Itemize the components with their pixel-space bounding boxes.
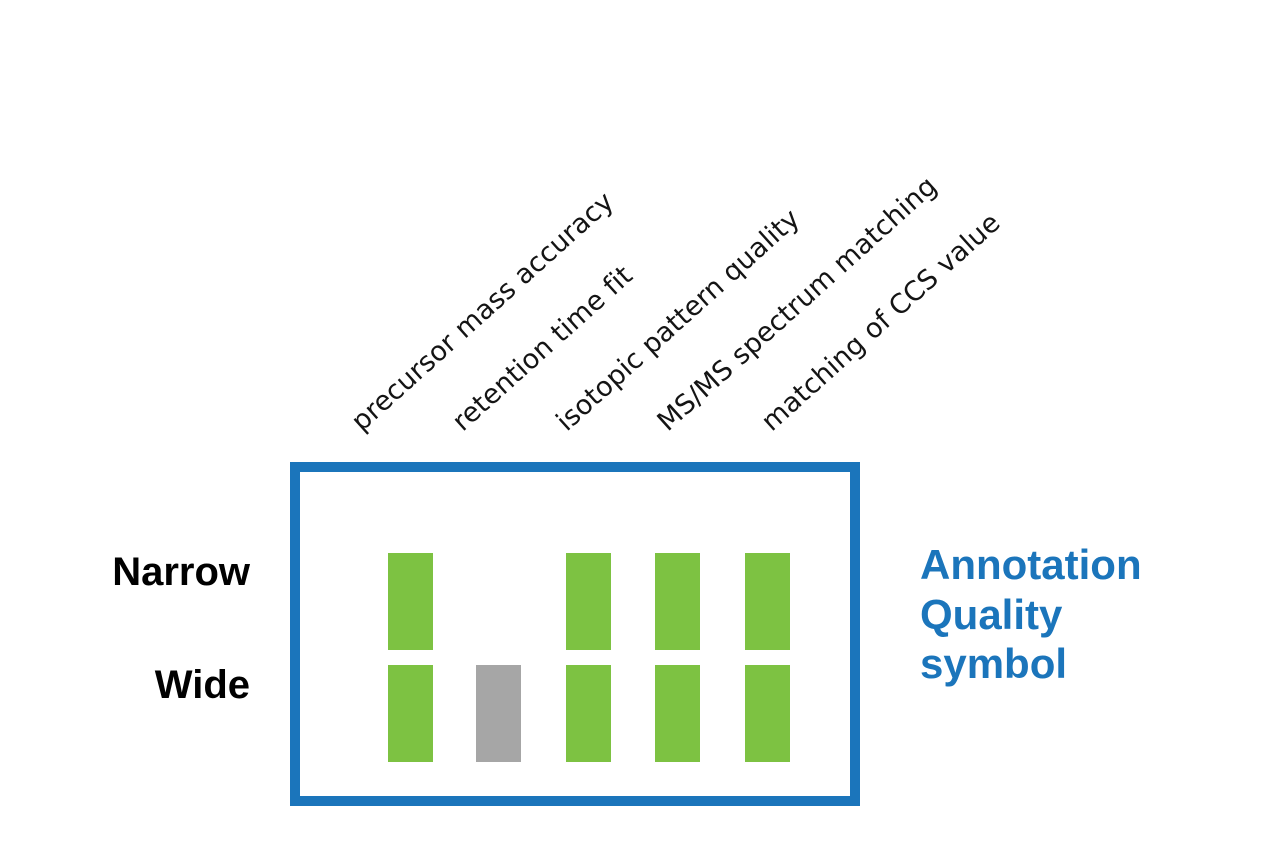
quality-bar-wide-retention-time-fit bbox=[476, 665, 521, 762]
quality-bar-narrow-isotopic-pattern-quality bbox=[566, 553, 611, 650]
caption-line-2: Quality bbox=[920, 590, 1250, 640]
quality-bar-narrow-msms-spectrum-matching bbox=[655, 553, 700, 650]
caption-line-3: symbol bbox=[920, 639, 1250, 689]
quality-bar-narrow-retention-time-fit bbox=[476, 553, 521, 650]
quality-bar-wide-precursor-mass-accuracy bbox=[388, 665, 433, 762]
row-label-wide: Wide bbox=[0, 665, 250, 705]
annotation-quality-symbol-panel bbox=[290, 462, 860, 806]
row-label-narrow: Narrow bbox=[0, 552, 250, 592]
caption-line-1: Annotation bbox=[920, 540, 1250, 590]
column-header-group: precursor mass accuracy retention time f… bbox=[0, 0, 1280, 460]
quality-bar-narrow-matching-of-ccs-value bbox=[745, 553, 790, 650]
quality-bar-wide-matching-of-ccs-value bbox=[745, 665, 790, 762]
quality-bar-wide-isotopic-pattern-quality bbox=[566, 665, 611, 762]
column-header-retention-time-fit: retention time fit bbox=[448, 262, 638, 436]
annotation-quality-symbol-caption: Annotation Quality symbol bbox=[920, 540, 1250, 689]
annotation-quality-figure: precursor mass accuracy retention time f… bbox=[0, 0, 1280, 844]
quality-bar-wide-msms-spectrum-matching bbox=[655, 665, 700, 762]
quality-bar-narrow-precursor-mass-accuracy bbox=[388, 553, 433, 650]
